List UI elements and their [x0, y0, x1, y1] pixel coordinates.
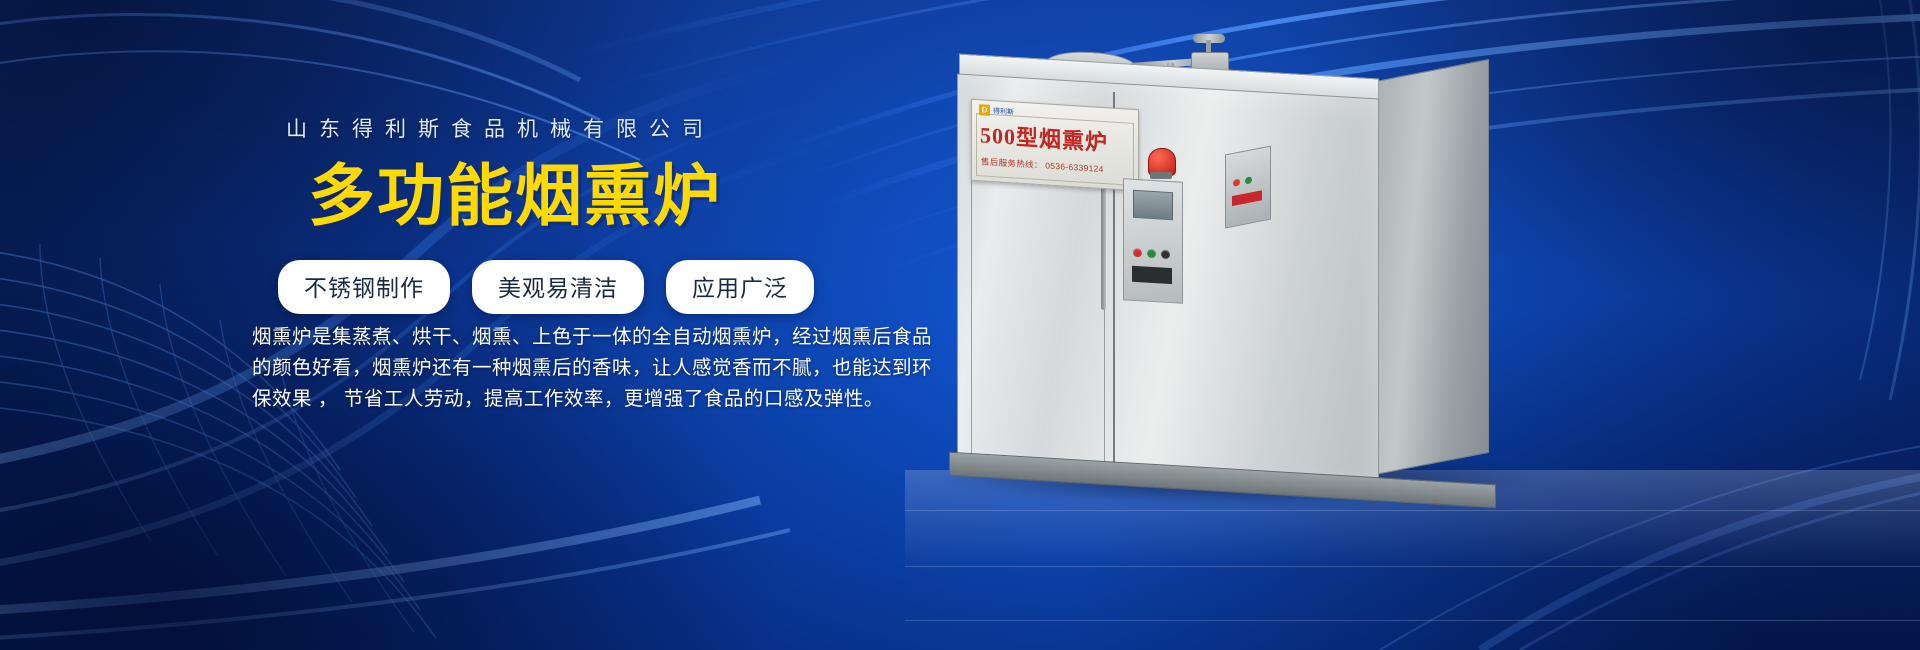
company-name: 山东得利斯食品机械有限公司: [286, 113, 715, 143]
feature-pill-wide-use[interactable]: 应用广泛: [666, 260, 814, 314]
feature-pill-stainless[interactable]: 不锈钢制作: [278, 260, 450, 314]
cabinet-side-panel: [1375, 59, 1489, 475]
feature-pill-list: 不锈钢制作 美观易清洁 应用广泛: [278, 260, 814, 314]
cabinet-door-handle: [1101, 178, 1106, 310]
start-button-icon[interactable]: [1147, 249, 1156, 259]
control-panel-label-strip: [1132, 266, 1172, 284]
banner-copy: 山东得利斯食品机械有限公司 多功能烟熏炉 不锈钢制作 美观易清洁 应用广泛 烟熏…: [0, 0, 880, 650]
product-description: 烟熏炉是集蒸煮、烘干、烟熏、上色于一体的全自动烟熏炉，经过烟熏后食品 的颜色好看…: [252, 322, 818, 415]
feature-pill-easy-clean[interactable]: 美观易清洁: [472, 260, 644, 314]
control-panel-buttons[interactable]: [1133, 248, 1170, 259]
product-photo: D 得利斯 500型烟熏炉 售后服务热线： 0536-6339124: [905, 0, 1920, 650]
promo-banner: 山东得利斯食品机械有限公司 多功能烟熏炉 不锈钢制作 美观易清洁 应用广泛 烟熏…: [0, 0, 1920, 650]
alarm-beacon-base: [1150, 172, 1172, 179]
indicator-light-green-icon: [1245, 176, 1252, 184]
description-line-2: 的颜色好看，烟熏炉还有一种烟熏后的香味，让人感觉香而不腻，也能达到环: [252, 353, 818, 384]
secondary-control-box[interactable]: [1225, 146, 1271, 229]
indicator-light-red-icon: [1233, 179, 1240, 187]
description-line-1: 烟熏炉是集蒸煮、烘干、烟熏、上色于一体的全自动烟熏炉，经过烟熏后食品: [252, 322, 818, 353]
brand-logo-text: 得利斯: [993, 106, 1014, 117]
machine-nameplate: D 得利斯 500型烟熏炉 售后服务热线： 0536-6339124: [971, 99, 1139, 192]
brand-logo-mark: D: [979, 104, 990, 116]
page-title: 多功能烟熏炉: [308, 163, 722, 230]
control-panel-screen: [1133, 190, 1173, 220]
power-button-icon[interactable]: [1133, 248, 1142, 258]
brand-logo: D 得利斯: [979, 104, 1014, 117]
description-line-3: 保效果 ， 节省工人劳动，提高工作效率，更增强了食品的口感及弹性。: [252, 384, 818, 415]
stop-button-icon[interactable]: [1161, 249, 1170, 259]
main-control-panel[interactable]: [1123, 178, 1183, 304]
emergency-switch-icon[interactable]: [1232, 190, 1262, 206]
